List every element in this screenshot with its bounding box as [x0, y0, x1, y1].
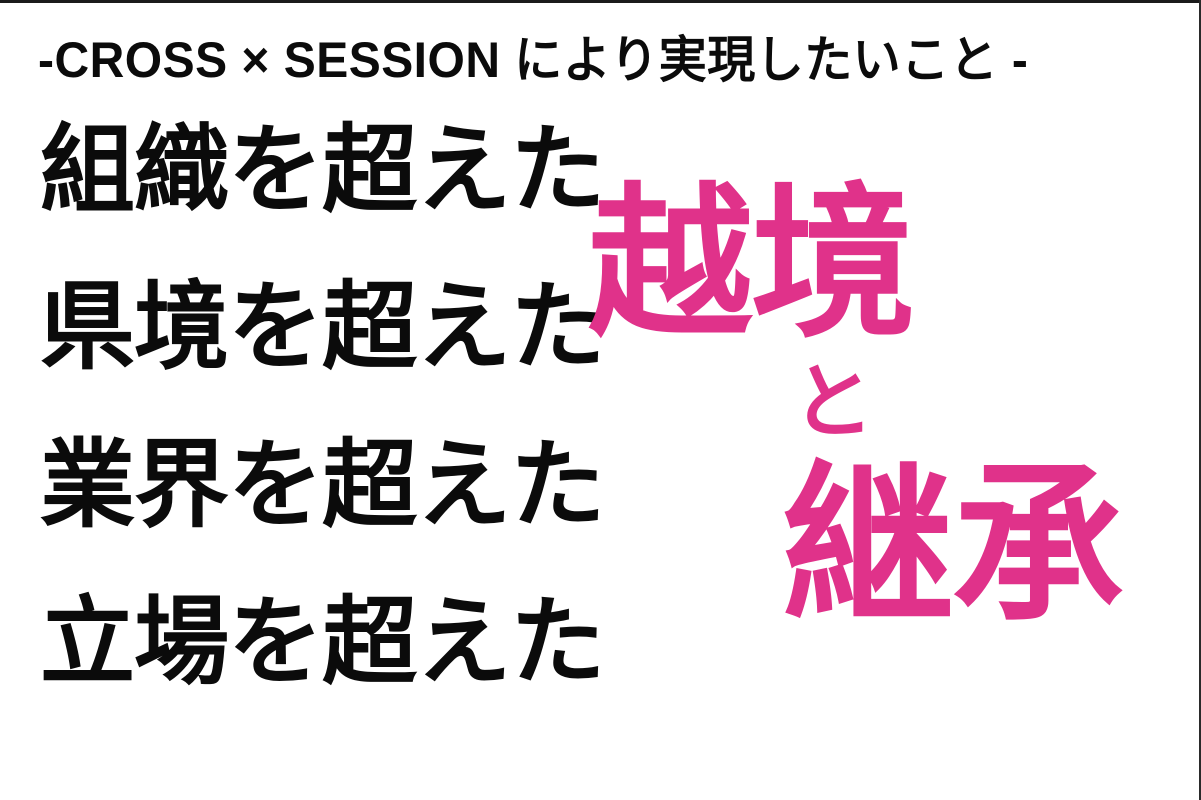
highlight-keyword-group: 越境 と 継承 [570, 160, 1190, 670]
top-divider-rule [0, 0, 1201, 3]
left-phrase-stack: 組織を超えた 県境を超えた 業界を超えた 立場を超えた [40, 122, 600, 692]
keyword-conjunction-to: と [792, 362, 874, 444]
left-phrase-line-4: 立場を超えた [40, 594, 594, 692]
keyword-keishou: 継承 [782, 460, 1122, 632]
slide-canvas: -CROSS × SESSION により実現したいこと - 組織を超えた 県境を… [0, 0, 1201, 800]
left-phrase-line-2: 県境を超えた [40, 279, 594, 377]
page-title: -CROSS × SESSION により実現したいこと - [38, 24, 1113, 96]
left-phrase-line-1: 組織を超えた [40, 122, 594, 220]
keyword-ekkyou: 越境 [588, 182, 914, 347]
left-phrase-line-3: 業界を超えた [40, 437, 594, 535]
